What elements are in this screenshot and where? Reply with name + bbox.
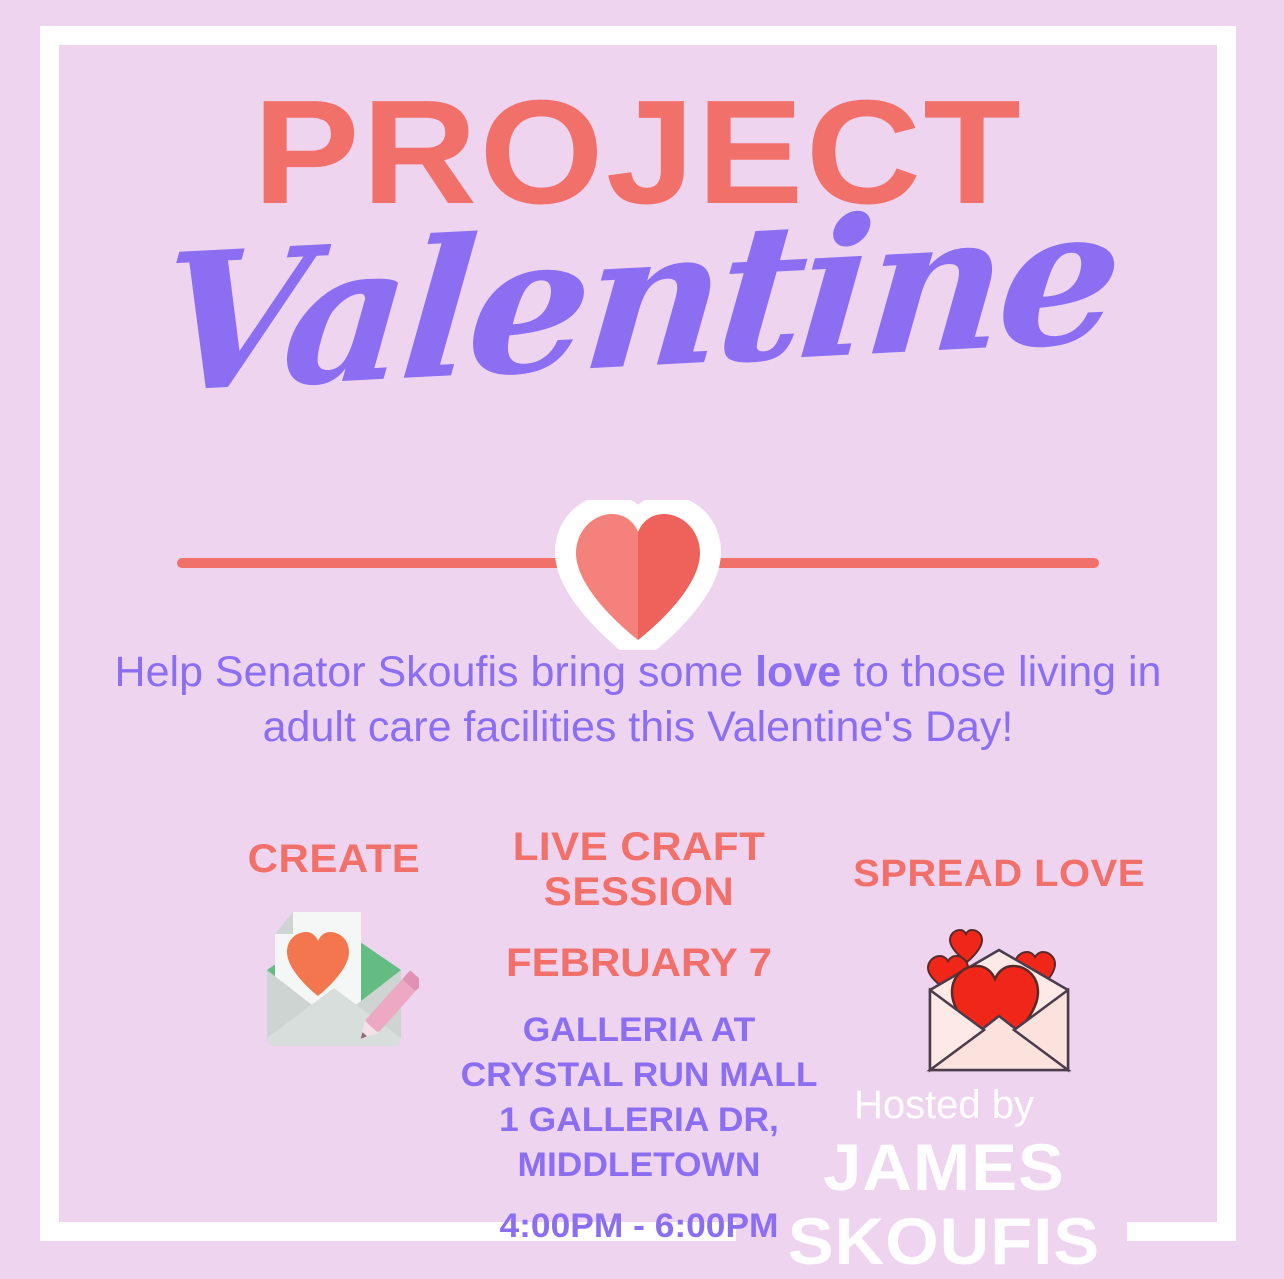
column-create-heading: CREATE: [182, 837, 487, 882]
host-name: JAMES SKOUFIS: [710, 1131, 1178, 1279]
column-spread-love: SPREAD LOVE: [849, 825, 1149, 1077]
subtitle-emphasis: love: [755, 648, 841, 696]
poster-content: PROJECT Valentine Help Senator Skoufis b…: [59, 45, 1217, 1222]
envelope-card-pencil-icon: [249, 904, 419, 1054]
column-event-heading: LIVE CRAFT SESSION: [450, 825, 828, 915]
host-block: Hosted by JAMES SKOUFIS State Senator: [719, 1083, 1169, 1279]
column-spread-heading: SPREAD LOVE: [842, 853, 1157, 896]
heart-icon: [550, 500, 726, 650]
host-prefix: Hosted by: [719, 1083, 1169, 1127]
page-title-valentine: Valentine: [47, 175, 1229, 425]
subtitle-text: Help Senator Skoufis bring some love to …: [89, 645, 1187, 755]
subtitle-part-1: Help Senator Skoufis bring some: [115, 648, 756, 696]
frame-border-top: [40, 26, 1236, 45]
venue-line-1: GALLERIA AT: [452, 1008, 826, 1053]
heart-divider: [59, 500, 1217, 650]
column-create: CREATE: [189, 825, 479, 1054]
open-envelope-hearts-icon: [922, 912, 1077, 1077]
event-date: FEBRUARY 7: [450, 941, 828, 986]
poster: PROJECT Valentine Help Senator Skoufis b…: [0, 0, 1284, 1279]
